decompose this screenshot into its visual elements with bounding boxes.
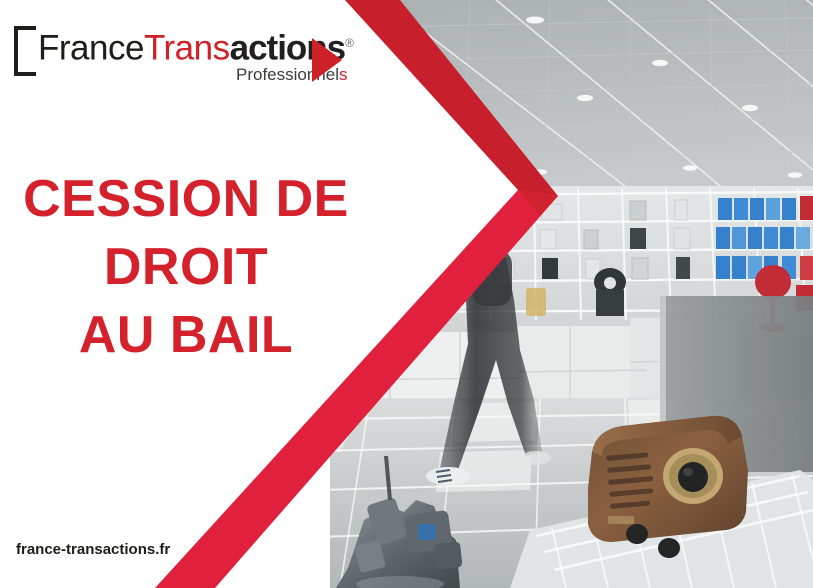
play-arrow-icon [312, 38, 342, 82]
page-title-line-3: AU BAIL [0, 301, 372, 369]
page-title-line-1: CESSION DE [0, 165, 372, 233]
registered-mark-icon: ® [345, 36, 353, 50]
brand-logo[interactable]: FranceTransactions® Professionnels [14, 24, 354, 84]
bracket-icon [14, 26, 36, 76]
logo-word-france: France [38, 29, 144, 68]
logo-wordmark: FranceTransactions® Professionnels [38, 24, 354, 84]
page-title: CESSION DE DROIT AU BAIL [0, 165, 372, 369]
logo-line-primary: FranceTransactions® [38, 24, 354, 68]
store-photo-illustration [330, 0, 813, 588]
site-url[interactable]: france-transactions.fr [16, 541, 170, 558]
logo-tagline: Professionnels [38, 66, 354, 84]
page-title-line-2: DROIT [0, 233, 372, 301]
logo-word-trans: Trans [144, 29, 230, 68]
store-photo [330, 0, 813, 588]
banner-root: FranceTransactions® Professionnels CESSI… [0, 0, 813, 588]
